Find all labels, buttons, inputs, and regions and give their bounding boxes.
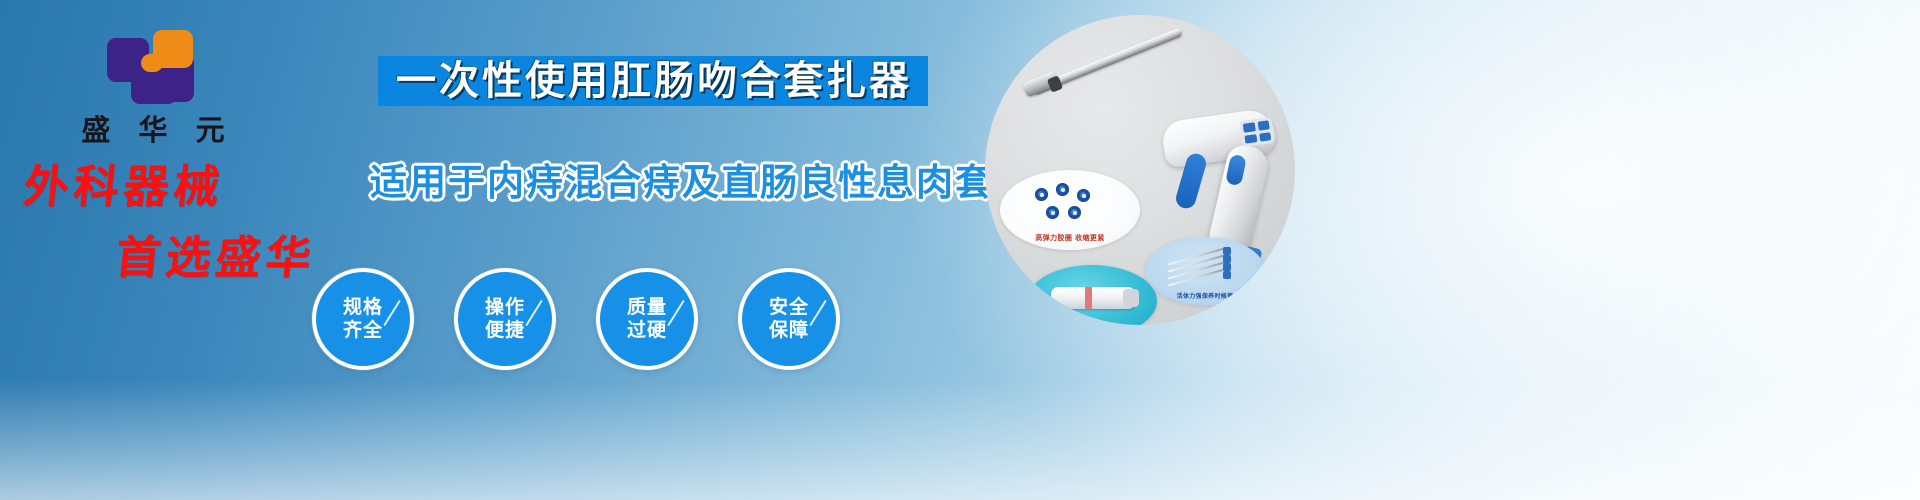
brand-name: 盛 华 元 (68, 114, 238, 147)
needle-hub-2 (1223, 255, 1231, 263)
rubber-band-3 (1077, 189, 1090, 202)
inset-rubber-bands: 高弹力胶圈 收缩更紧 (1000, 170, 1140, 250)
feature-badge-operation-line2: 便捷 (485, 319, 525, 342)
feature-badge-safety-line1: 安全 (769, 296, 809, 319)
feature-badge-specs[interactable]: 规格 齐全 (312, 268, 414, 370)
inset-needles-caption: 活体力强保养时候更 (1145, 291, 1265, 300)
rubber-band-5 (1068, 206, 1081, 219)
headline-band: 一次性使用肛肠吻合套扎器 (378, 56, 928, 106)
feature-badge-quality-line2: 过硬 (627, 319, 667, 342)
feature-badge-operation[interactable]: 操作 便捷 (454, 268, 556, 370)
inset-rubber-bands-caption: 高弹力胶圈 收缩更紧 (1000, 233, 1140, 243)
inset-needles: 活体力强保养时候更 (1145, 237, 1265, 305)
feature-badge-safety-line2: 保障 (769, 319, 809, 342)
feature-badge-quality-line1: 质量 (627, 296, 667, 319)
control-dot-3 (1244, 134, 1257, 144)
feature-badge-safety[interactable]: 安全 保障 (738, 268, 840, 370)
needle-hub-4 (1223, 271, 1231, 279)
inset-ligator-tube (1027, 265, 1157, 325)
brand-logo: 盛 华 元 (68, 28, 238, 147)
feature-badge-quality[interactable]: 质量 过硬 (596, 268, 698, 370)
control-dot-1 (1243, 122, 1256, 132)
device-control-pad (1239, 117, 1274, 147)
mark-square-5 (141, 54, 163, 72)
rubber-band-2 (1056, 183, 1069, 196)
feature-badge-list: 规格 齐全 操作 便捷 质量 过硬 安全 保障 (312, 268, 840, 370)
rubber-band-1 (1035, 188, 1048, 201)
promo-banner: 盛 华 元 外科器械 首选盛华 一次性使用肛肠吻合套扎器 适用于内痔混合痔及直肠… (0, 0, 1920, 500)
bottom-fade (0, 380, 1920, 500)
brand-mark-icon (107, 28, 199, 108)
feature-badge-specs-line2: 齐全 (343, 319, 383, 342)
control-dot-2 (1257, 120, 1270, 130)
control-dot-4 (1259, 132, 1272, 142)
rubber-band-4 (1046, 206, 1059, 219)
tube-cap (1123, 289, 1139, 307)
slogan-line-1: 外科器械 (21, 150, 354, 215)
needle-hub-3 (1223, 263, 1231, 271)
feature-badge-specs-line1: 规格 (343, 296, 383, 319)
headline-text: 一次性使用肛肠吻合套扎器 (396, 61, 912, 101)
feature-badge-operation-line1: 操作 (485, 296, 525, 319)
product-photo: 高弹力胶圈 收缩更紧 活体力强保养时候更 (985, 15, 1295, 325)
calligraphy-slogan: 外科器械 首选盛华 (20, 150, 350, 286)
needle-hub-1 (1223, 247, 1231, 255)
tube-ring (1085, 287, 1092, 309)
